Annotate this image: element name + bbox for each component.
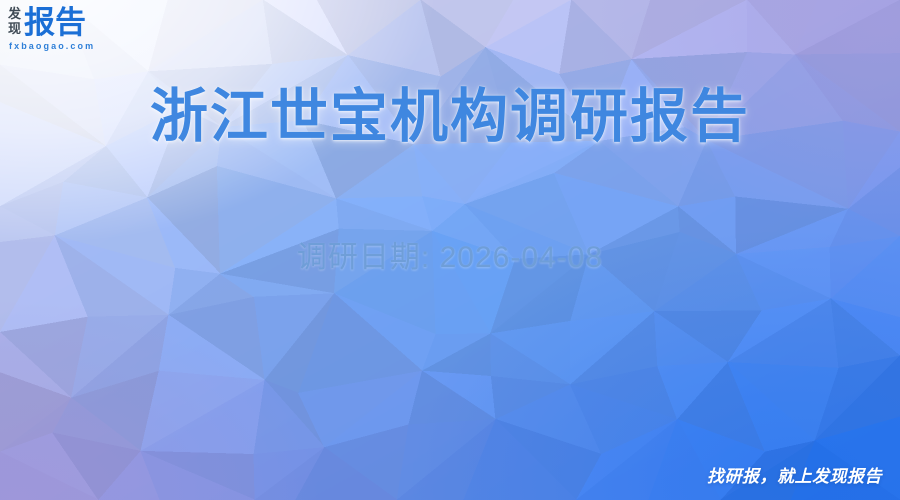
footer-slogan: 找研报，就上发现报告 [707, 466, 882, 488]
page-title: 浙江世宝机构调研报告 [0, 78, 900, 154]
logo-mark-bottom: 现 [8, 22, 21, 37]
logo-mark-top: 发 [8, 7, 21, 22]
logo-domain-text: fxbaogao.com [9, 41, 95, 52]
logo-wordmark: 报告 [24, 7, 86, 39]
cover-center-block: 浙江世宝机构调研报告 调研日期: 2026-04-08 [0, 78, 900, 278]
logo-wordmark-row: 发 现 报告 [8, 6, 95, 39]
site-logo[interactable]: 发 现 报告 fxbaogao.com [8, 6, 95, 52]
survey-date-subtitle: 调研日期: 2026-04-08 [0, 238, 900, 278]
logo-mark-characters: 发 现 [8, 5, 21, 39]
report-cover-page: 发 现 报告 fxbaogao.com 浙江世宝机构调研报告 调研日期: 202… [0, 0, 900, 500]
